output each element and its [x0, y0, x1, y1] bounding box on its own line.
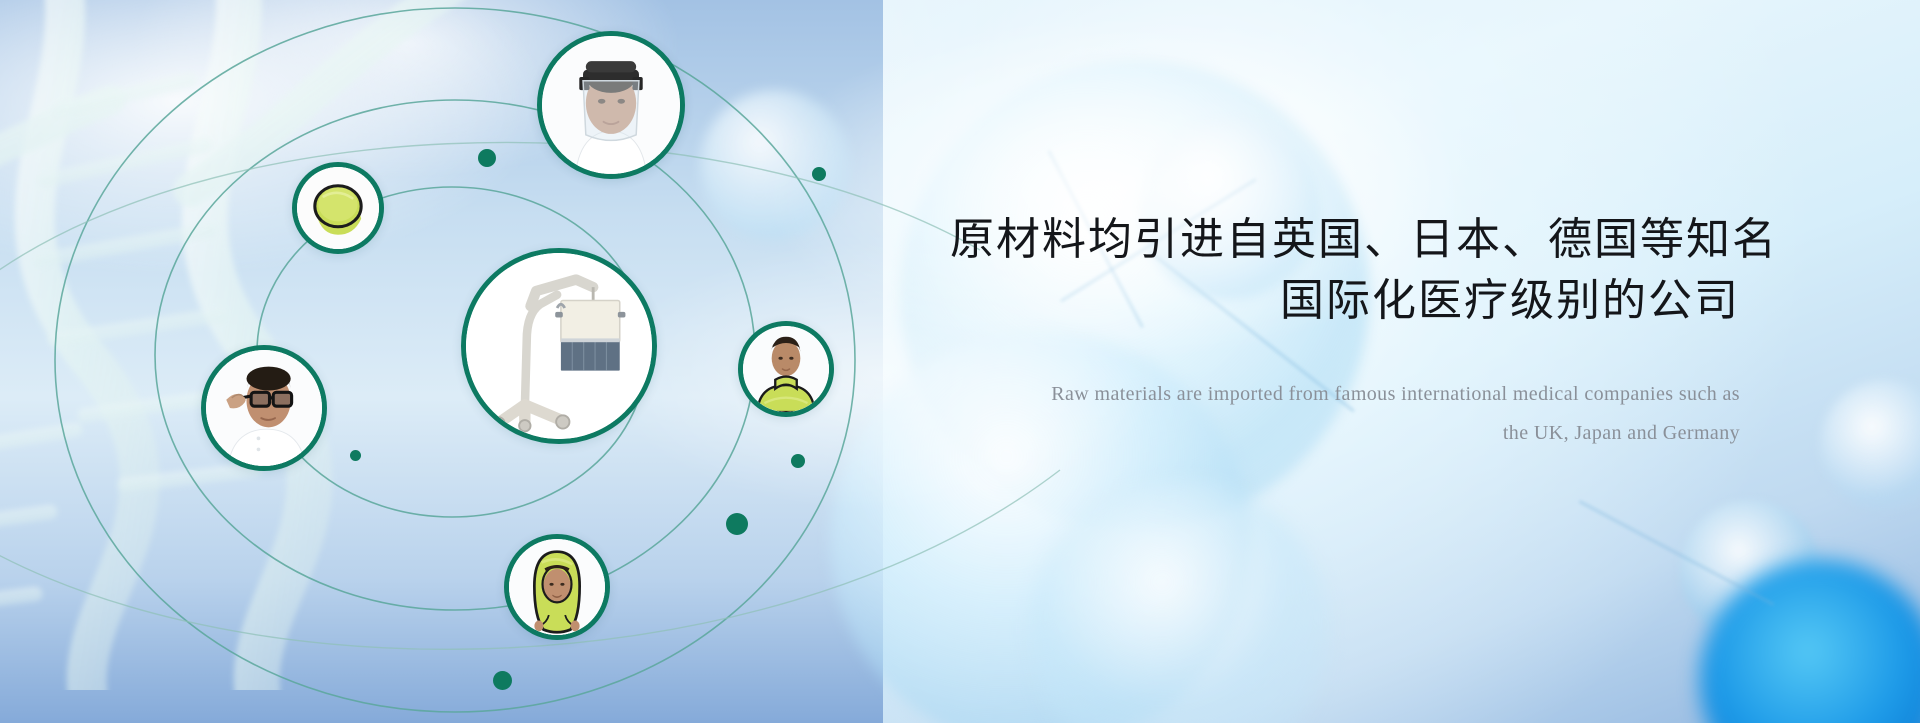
headline-line-2: 国际化医疗级别的公司 — [950, 271, 1740, 332]
orbit-dot-bottom — [493, 671, 512, 690]
lead-cap-illustration — [297, 167, 379, 249]
lead-cap-photo[interactable] — [292, 162, 384, 254]
lead-cap-photo-inner — [297, 167, 379, 249]
orbit-dot-mid — [791, 454, 805, 468]
banner-subtitle: Raw materials are imported from famous i… — [950, 375, 1740, 453]
orbit-dot-large — [726, 513, 748, 535]
orbit-dot-left — [350, 450, 361, 461]
hero-banner: 原材料均引进自英国、日本、德国等知名 国际化医疗级别的公司 Raw materi… — [0, 0, 1920, 723]
thyroid-collar-photo-inner — [743, 326, 829, 412]
headline-line-1: 原材料均引进自英国、日本、德国等知名 — [950, 215, 1778, 264]
protective-hood-photo-inner — [509, 539, 605, 635]
face-shield-illustration — [542, 36, 680, 174]
face-shield-photo-inner — [542, 36, 680, 174]
page-title: 原材料均引进自英国、日本、德国等知名 国际化医疗级别的公司 — [950, 210, 1740, 331]
subtitle-line-1: Raw materials are imported from famous i… — [1051, 383, 1740, 405]
lead-glasses-photo-inner — [206, 350, 322, 466]
orbit-dot-top — [478, 149, 496, 167]
mobile-shield-photo-inner — [466, 253, 652, 439]
lead-glasses-illustration — [206, 350, 322, 466]
protective-hood-photo[interactable] — [504, 534, 610, 640]
orbit-dot-right — [812, 167, 826, 181]
thyroid-collar-illustration — [743, 326, 829, 412]
face-shield-photo[interactable] — [537, 31, 685, 179]
subtitle-line-2: the UK, Japan and Germany — [950, 414, 1740, 453]
lead-glasses-photo[interactable] — [201, 345, 327, 471]
thyroid-collar-photo[interactable] — [738, 321, 834, 417]
mobile-shield-illustration — [466, 253, 652, 439]
banner-copy: 原材料均引进自英国、日本、德国等知名 国际化医疗级别的公司 Raw materi… — [950, 210, 1740, 453]
mobile-shield-photo[interactable] — [461, 248, 657, 444]
protective-hood-illustration — [509, 539, 605, 635]
